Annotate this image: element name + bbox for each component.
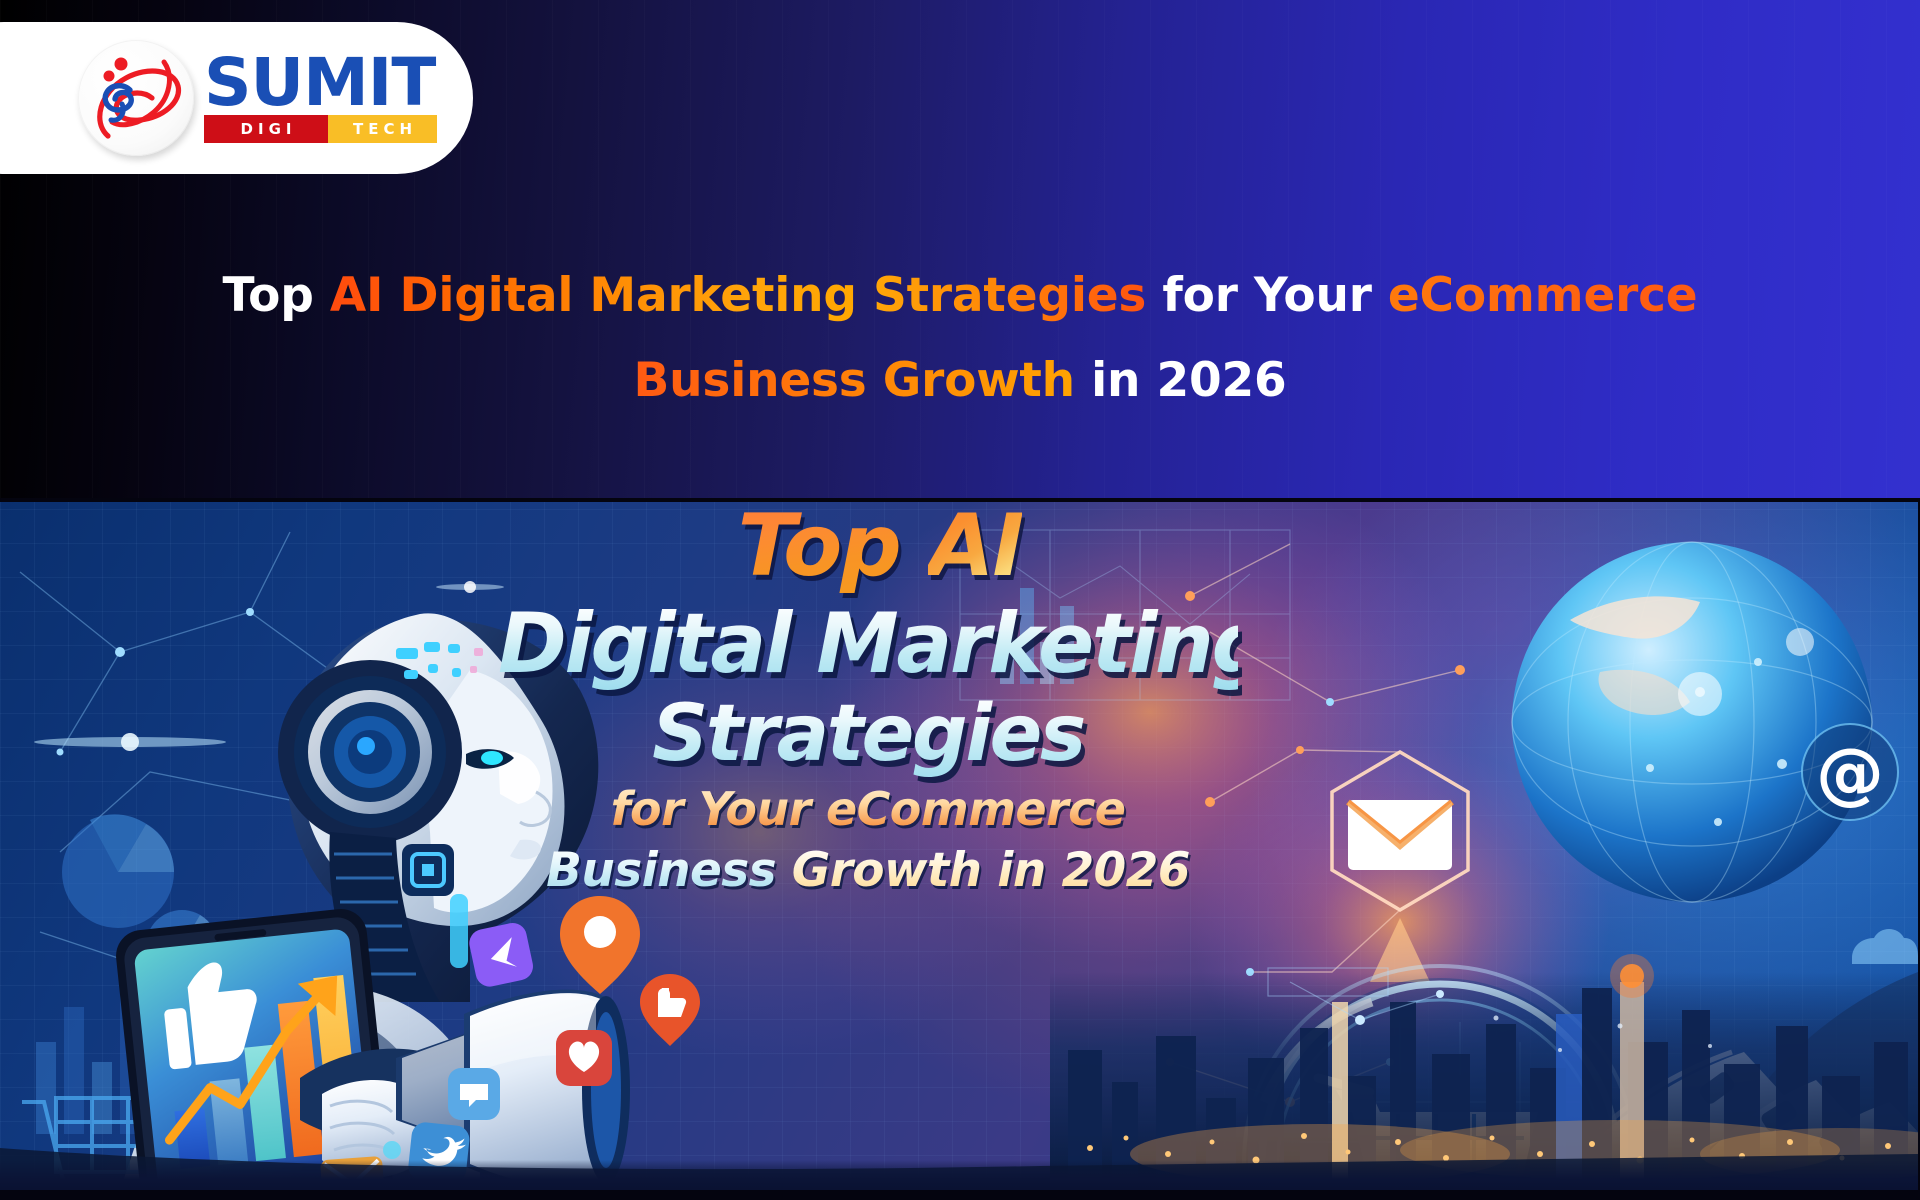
brand-name: SUMIT (204, 53, 435, 112)
brand-tagline-tech: TECH (328, 115, 437, 143)
title-seg-ecommerce: eCommerce (1388, 268, 1698, 323)
hero-title-ai: AI (928, 502, 1023, 596)
hero-title-line1: Top AI (522, 502, 1238, 598)
brand-tagline: DIGI TECH (204, 115, 437, 143)
title-seg-in-2026: in 2026 (1075, 353, 1287, 408)
brand-tagline-digi: DIGI (204, 115, 328, 143)
page-root: SUMIT DIGI TECH Top AI Digital Marketing… (0, 0, 1920, 1200)
title-seg-business-growth: Business Growth (634, 353, 1075, 408)
hero-title-line2: Digital Marketing (498, 598, 1238, 690)
hero-headline-group: Top AI Digital Marketing Strategies for … (498, 502, 1238, 902)
title-seg-ai-digital-marketing: AI Digital Marketing (330, 268, 873, 323)
hero-title-top: Top (738, 502, 900, 596)
hero-subtitle-line2: Business Growth in 2026 (498, 840, 1238, 902)
hero-subtitle-business: Business (546, 843, 776, 898)
hero-title-line3: Strategies (498, 690, 1238, 778)
atom-swirl-icon (78, 40, 194, 156)
hero-subtitle-line1: for Your eCommerce (498, 778, 1238, 840)
brand-logo[interactable]: SUMIT DIGI TECH (0, 22, 473, 174)
hero-subtitle-growth: Growth in 2026 (792, 843, 1190, 898)
hero-banner-image: @ (0, 498, 1920, 1200)
hero-artwork: @ (0, 502, 1918, 1190)
page-title: Top AI Digital Marketing Strategies for … (0, 253, 1920, 423)
svg-text:@: @ (1816, 734, 1884, 813)
brand-wordmark: SUMIT DIGI TECH (204, 53, 437, 142)
page-header: SUMIT DIGI TECH Top AI Digital Marketing… (0, 0, 1920, 498)
title-seg-strategies: Strategies (873, 268, 1146, 323)
hero-bottom-fade (0, 1160, 1918, 1190)
title-seg-for-your: for Your (1146, 268, 1388, 323)
title-seg-top: Top (223, 268, 330, 323)
